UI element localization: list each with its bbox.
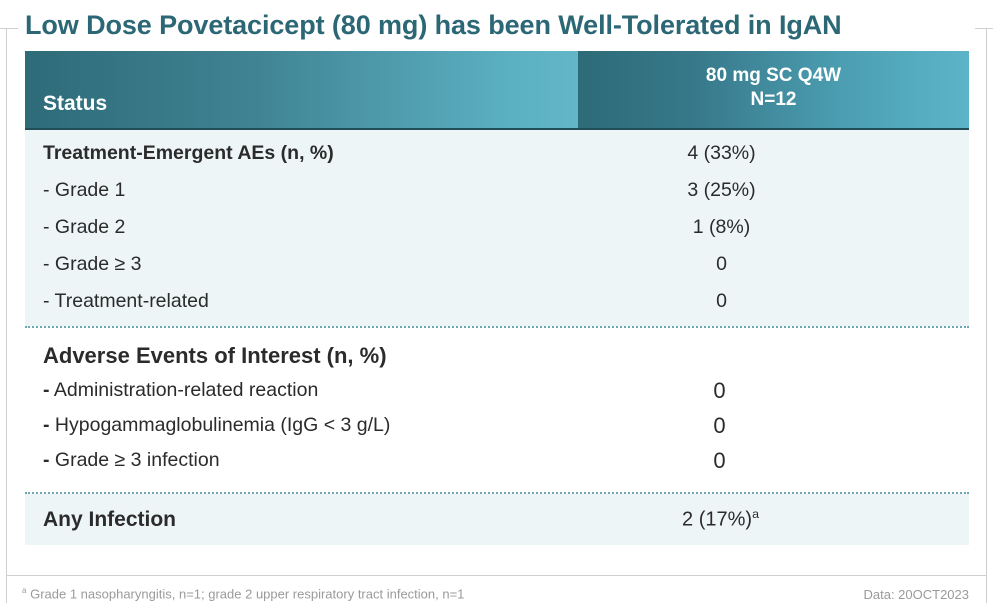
- table-row: - Grade ≥ 3 0: [25, 246, 969, 283]
- row-value: 3 (25%): [526, 179, 917, 202]
- row-label: Adverse Events of Interest (n, %): [25, 343, 578, 369]
- slide-frame-right-line: [986, 28, 987, 603]
- table-row: - Grade ≥ 3 infection 0: [25, 443, 969, 478]
- row-label: Treatment-Emergent AEs (n, %): [25, 142, 578, 165]
- row-value: 1 (8%): [526, 216, 917, 239]
- table-row: - Hypogammaglobulinemia (IgG < 3 g/L) 0: [25, 408, 969, 443]
- table-row: - Grade 1 3 (25%): [25, 172, 969, 209]
- row-label: - Treatment-related: [25, 290, 578, 313]
- slide-frame-right-cap: [975, 28, 993, 29]
- table-row: Adverse Events of Interest (n, %): [25, 338, 969, 373]
- row-value: 0: [524, 378, 915, 404]
- column-header-status: Status: [25, 51, 578, 128]
- section-adverse-events-of-interest: Adverse Events of Interest (n, %) - Admi…: [25, 328, 969, 492]
- row-label: - Hypogammaglobulinemia (IgG < 3 g/L): [25, 414, 578, 437]
- slide-frame-left-line: [6, 28, 7, 603]
- section-treatment-emergent-aes: Treatment-Emergent AEs (n, %) 4 (33%) - …: [25, 130, 969, 326]
- column-header-arm-n: N=12: [751, 88, 797, 112]
- row-label: Any Infection: [25, 508, 578, 532]
- row-value: 0: [524, 448, 915, 474]
- footnote-data-cutoff: Data: 20OCT2023: [863, 587, 969, 602]
- footnote-left-text: Grade 1 nasopharyngitis, n=1; grade 2 up…: [26, 586, 464, 601]
- page-title: Low Dose Povetacicept (80 mg) has been W…: [25, 8, 975, 42]
- footnote-left: a Grade 1 nasopharyngitis, n=1; grade 2 …: [22, 586, 464, 601]
- table-row: - Grade 2 1 (8%): [25, 209, 969, 246]
- table-header-row: Status 80 mg SC Q4W N=12: [25, 51, 969, 130]
- table-row: Any Infection 2 (17%)a: [25, 494, 969, 545]
- footnote-separator: [6, 575, 986, 576]
- row-label-text: Hypogammaglobulinemia (IgG < 3 g/L): [55, 414, 390, 436]
- row-dash: -: [43, 414, 50, 436]
- footnote-marker-ref: a: [752, 507, 759, 521]
- column-header-arm-dose: 80 mg SC Q4W: [706, 64, 841, 88]
- row-label: - Administration-related reaction: [25, 379, 578, 402]
- column-header-treatment-arm: 80 mg SC Q4W N=12: [578, 51, 969, 128]
- row-value-text: 2 (17%): [682, 509, 752, 531]
- row-value: 0: [526, 253, 917, 276]
- row-label-text: Grade ≥ 3 infection: [55, 449, 220, 471]
- table-row: - Treatment-related 0: [25, 283, 969, 320]
- table-row: - Administration-related reaction 0: [25, 373, 969, 408]
- row-label: - Grade ≥ 3: [25, 253, 578, 276]
- safety-summary-table: Status 80 mg SC Q4W N=12 Treatment-Emerg…: [25, 51, 969, 545]
- row-dash: -: [43, 449, 50, 471]
- row-value: 4 (33%): [526, 142, 917, 165]
- row-label-text: Administration-related reaction: [54, 379, 318, 401]
- row-label: - Grade 2: [25, 216, 578, 239]
- row-label: - Grade 1: [25, 179, 578, 202]
- column-header-status-label: Status: [43, 92, 107, 116]
- row-value: 0: [524, 413, 915, 439]
- row-dash: -: [43, 379, 50, 401]
- row-label: - Grade ≥ 3 infection: [25, 449, 578, 472]
- row-value: 0: [526, 290, 917, 313]
- slide-frame-left-cap: [0, 28, 18, 29]
- row-value: 2 (17%)a: [525, 507, 916, 532]
- table-row: Treatment-Emergent AEs (n, %) 4 (33%): [25, 135, 969, 172]
- section-any-infection: Any Infection 2 (17%)a: [25, 494, 969, 545]
